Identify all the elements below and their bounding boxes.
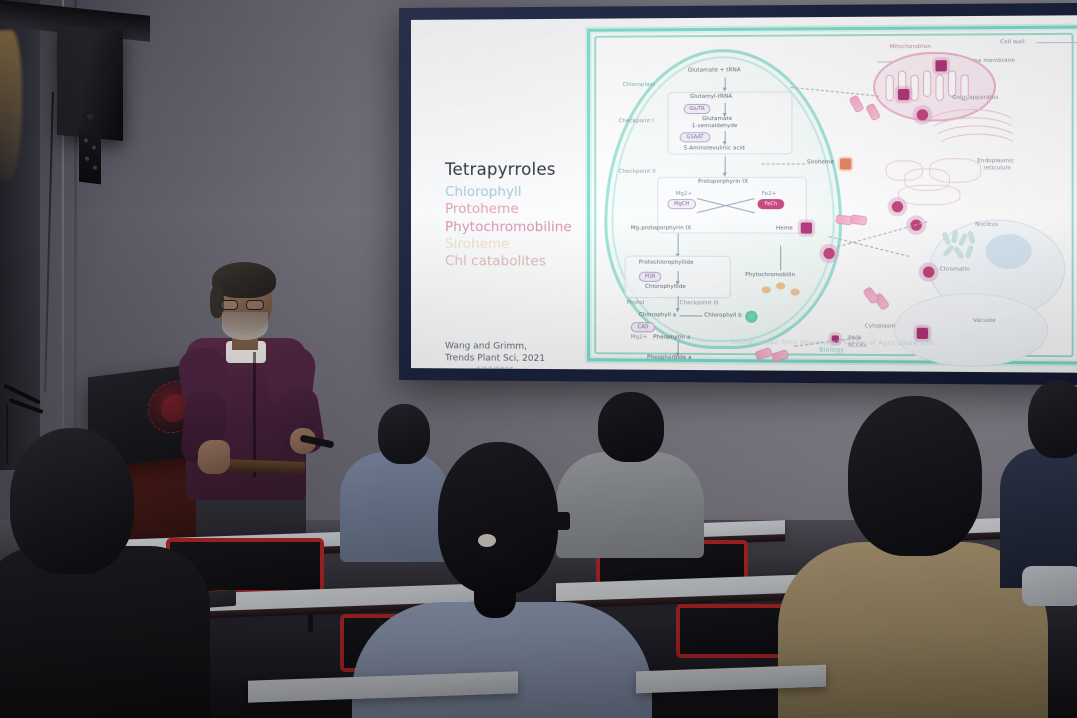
audience-head <box>598 392 664 462</box>
chair <box>676 604 792 658</box>
label-glutamate-semialdehyde-1: Glutamate <box>702 116 732 122</box>
audience-body <box>352 602 652 718</box>
heme-marker <box>917 328 928 339</box>
audience-head <box>1028 380 1077 458</box>
speaker-face <box>57 25 123 141</box>
chromatin-cluster <box>942 230 984 265</box>
label-fe-ion: Fe2+ <box>762 191 777 197</box>
label-golgi: Golgi apparatus <box>952 95 998 101</box>
siroheme-marker <box>840 158 851 169</box>
label-protoporphyrin: Protoporphyrin IX <box>698 179 748 185</box>
presenter-hand-left <box>198 440 230 474</box>
label-phytol: Phytol <box>627 300 645 306</box>
slide-citation: Wang and Grimm, Trends Plant Sci, 2021 4… <box>445 340 545 373</box>
enzyme-por: POR <box>639 272 661 282</box>
heme-marker <box>898 89 909 100</box>
label-chlorophyllide: Chlorophyllide <box>645 284 686 290</box>
enzyme-fech: FeCh <box>758 199 785 209</box>
label-nucleus: Nucleus <box>975 222 998 228</box>
heme-marker <box>801 222 812 233</box>
mic-stand <box>6 404 8 464</box>
heme-marker <box>923 266 934 277</box>
label-cell-wall: Cell wall <box>1000 39 1025 45</box>
label-mitochondrion: Mitochondrion <box>890 44 931 50</box>
label-mg-protoporphyrin: Mg-protoporphyrin IX <box>631 225 691 231</box>
enzyme-cao: CAO <box>631 322 655 332</box>
enzyme-mgch: MgCH <box>667 199 696 209</box>
audience-body <box>340 452 450 562</box>
audience-head <box>10 428 134 574</box>
citation-line-1: Wang and Grimm, <box>445 340 545 353</box>
enzyme-gsaat: GSAAT <box>680 132 711 142</box>
glasses-icon <box>220 300 238 310</box>
label-glutamate-trna: Glutamate + tRNA <box>688 67 741 73</box>
audience-body <box>556 452 704 558</box>
enzyme-glutr: GluTR <box>684 104 711 114</box>
label-glutamyl-trna: Glutamyl-tRNA <box>690 94 732 100</box>
arrow <box>780 246 781 270</box>
pigment-blob <box>790 288 799 295</box>
label-pheophorbide: Pheophorbide a <box>647 355 692 361</box>
cell-pathway-diagram: Cell wall Plasma membrane Chloroplast Gl… <box>587 26 1077 365</box>
label-checkpoint-2: Checkpoint II <box>619 169 656 175</box>
label-er-2: reticulum <box>983 165 1011 171</box>
label-vacuole: Vacuole <box>973 318 996 324</box>
pigment-blob <box>762 286 771 293</box>
heme-marker <box>823 248 834 259</box>
label-heme: Heme <box>776 225 793 231</box>
audience-head <box>848 396 982 556</box>
label-ala: 5-Aminolevulinic acid <box>684 145 745 151</box>
label-er-1: Endoplasmic <box>977 158 1014 164</box>
lecture-hall-scene: Tetrapyrroles Chlorophyll Protoheme Phyt… <box>0 0 1077 718</box>
wall-speaker-icon <box>57 25 123 141</box>
heme-marker <box>892 201 903 212</box>
label-checkpoint-3: Checkpoint III <box>680 300 719 306</box>
label-phytochromobilin: Phytochromobilin <box>745 272 795 278</box>
label-siroheme: Siroheme <box>807 159 834 165</box>
heme-marker <box>935 60 946 71</box>
audience-head <box>378 404 430 464</box>
label-chlorophyll-a: Chlorophyll a <box>639 312 676 318</box>
bag-on-chair <box>1022 566 1077 606</box>
label-mg-ion: Mg2+ <box>676 191 693 197</box>
label-cytoplasm: Cytoplasm <box>865 323 896 329</box>
heme-marker <box>917 109 928 120</box>
arrow <box>678 233 679 255</box>
presentation-slide: Tetrapyrroles Chlorophyll Protoheme Phyt… <box>411 15 1077 373</box>
hair-tie <box>478 534 496 547</box>
presenter-shirt-placket <box>253 352 256 477</box>
dashed-link <box>762 164 805 165</box>
speaker-port <box>85 112 95 122</box>
arrow <box>680 315 702 316</box>
nucleolus <box>986 234 1032 269</box>
projection-screen: Tetrapyrroles Chlorophyll Protoheme Phyt… <box>399 3 1077 385</box>
audience-body <box>0 546 210 718</box>
citation-line-2: Trends Plant Sci, 2021 <box>445 352 545 365</box>
chlorophyll-marker <box>745 311 757 323</box>
label-checkpoint-1: Checkpoint I <box>619 118 654 124</box>
label-protochlorophyllide: Protochlorophyllide <box>639 260 694 266</box>
ponytail <box>474 546 516 618</box>
label-chloroplast: Chloroplast <box>623 82 655 88</box>
presenter-beard <box>222 312 268 340</box>
glasses-icon <box>246 300 264 310</box>
speaker-bracket <box>79 130 101 185</box>
label-chlorophyll-b: Chlorophyll b <box>704 312 742 318</box>
label-chromatin: Chromatin <box>940 267 970 273</box>
pigment-blob <box>776 282 785 289</box>
label-glutamate-semialdehyde-2: 1-semialdehyde <box>692 123 738 129</box>
slide-datestamp: 4/17/2025 <box>445 366 545 373</box>
